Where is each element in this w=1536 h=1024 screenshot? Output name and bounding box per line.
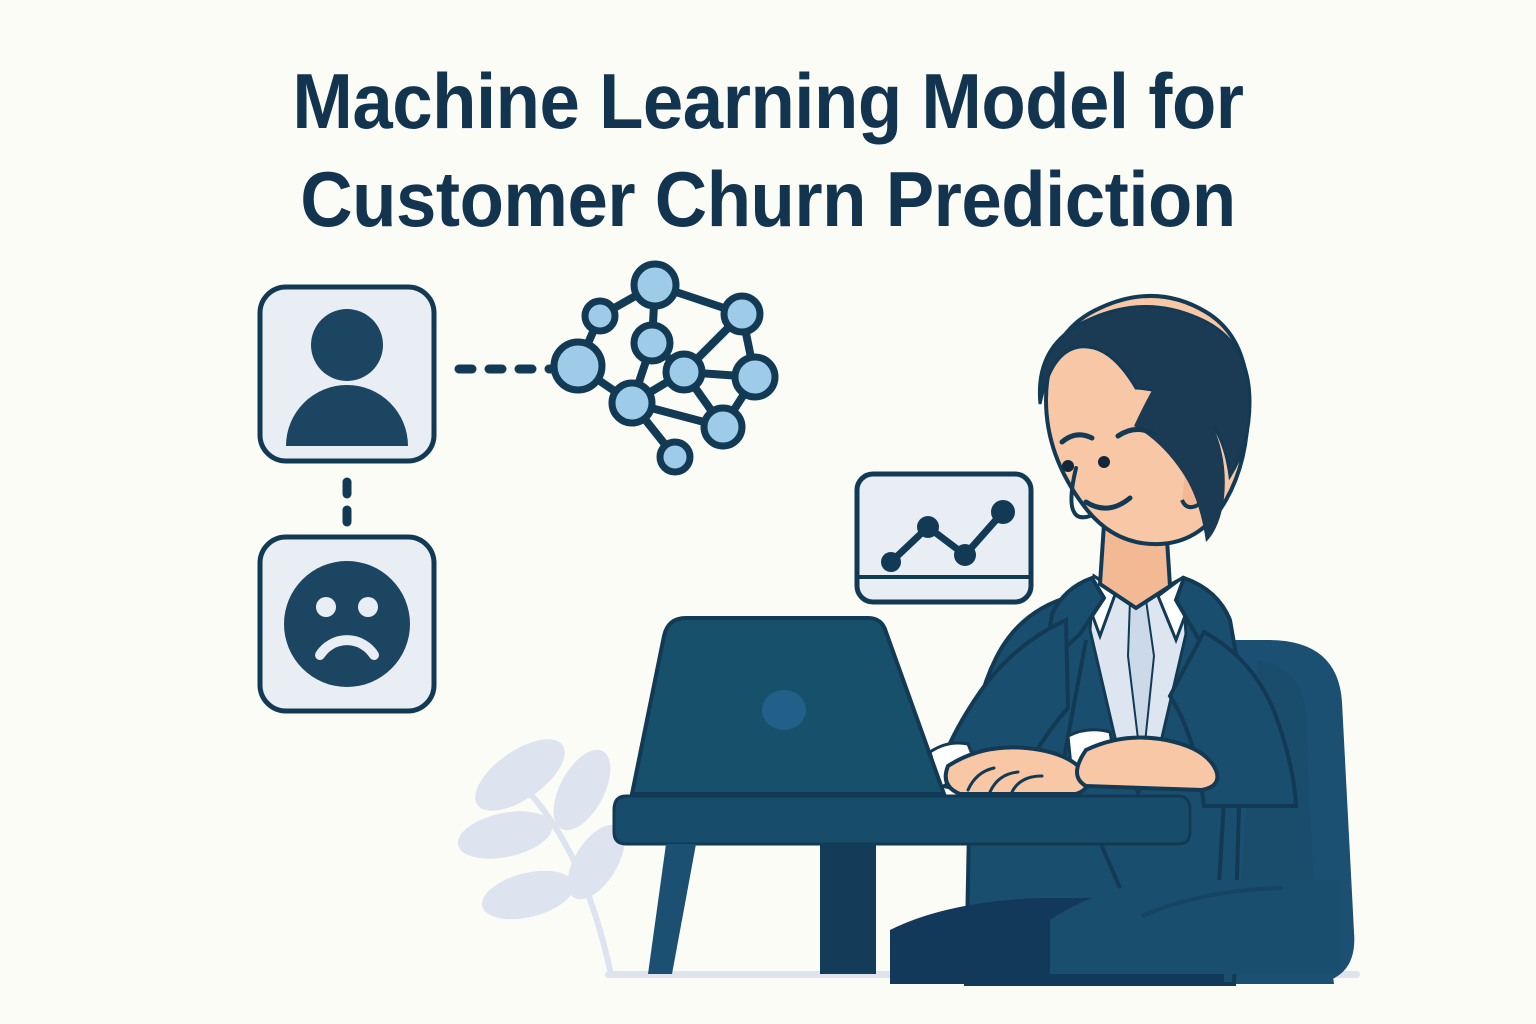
network-node [612, 383, 652, 423]
churned-customer-card[interactable] [260, 537, 434, 711]
laptop-logo [762, 690, 806, 730]
network-node [585, 301, 615, 331]
chart-point [881, 552, 901, 572]
network-node [634, 325, 670, 361]
analytics-chart-card[interactable] [857, 474, 1031, 602]
customer-profile-card[interactable] [260, 287, 434, 461]
eye-left [1062, 460, 1074, 472]
network-node [554, 342, 602, 390]
network-node [735, 357, 775, 397]
scene-illustration [0, 0, 1536, 1024]
sad-face-icon [284, 561, 410, 687]
network-node [704, 408, 742, 446]
illustration-canvas: Machine Learning Model for Customer Chur… [0, 0, 1536, 1024]
chart-point [954, 544, 976, 566]
network-node [660, 442, 690, 472]
network-node [666, 354, 702, 390]
chart-point [917, 516, 939, 538]
eye-right [1098, 456, 1110, 468]
network-node [634, 264, 676, 306]
network-node [724, 296, 760, 332]
laptop-base [614, 796, 1190, 844]
chart-point [991, 500, 1015, 524]
